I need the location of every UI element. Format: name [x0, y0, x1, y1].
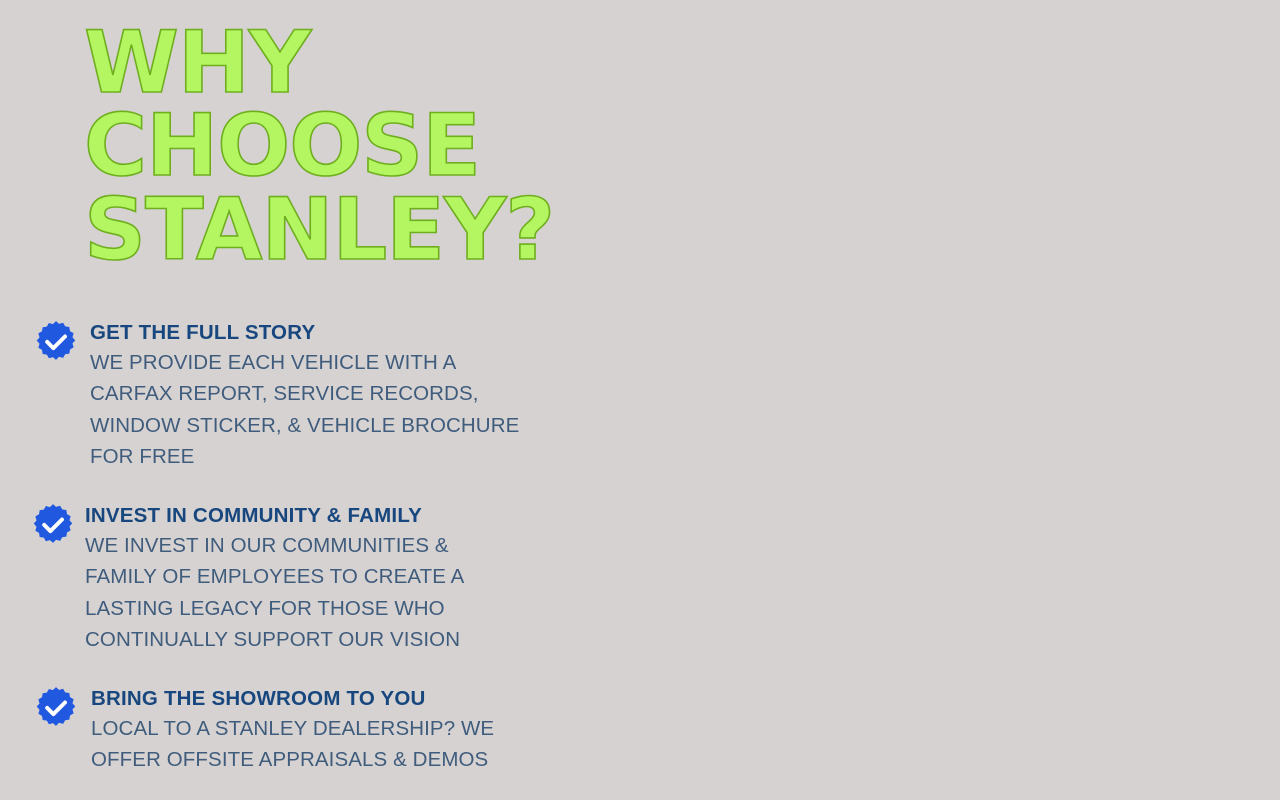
- feature-title: GET THE FULL STORY: [90, 320, 608, 346]
- feature-description: WE INVEST IN OUR COMMUNITIES & FAMILY OF…: [85, 530, 605, 655]
- right-column: NO HIDDEN DEALER FEES NO ADDENDUMS, ADD …: [650, 0, 1280, 800]
- poster-canvas: WHY CHOOSE STANLEY? GET THE FULL STORY W…: [0, 0, 1280, 800]
- left-column: WHY CHOOSE STANLEY? GET THE FULL STORY W…: [0, 0, 620, 800]
- feature-item: BRING THE SHOWROOM TO YOU LOCAL TO A STA…: [33, 686, 608, 776]
- page-title: WHY CHOOSE STANLEY?: [84, 22, 604, 272]
- feature-text: BRING THE SHOWROOM TO YOU LOCAL TO A STA…: [91, 686, 608, 776]
- check-badge-icon: [33, 320, 79, 366]
- feature-description: LOCAL TO A STANLEY DEALERSHIP? WE OFFER …: [91, 713, 608, 775]
- feature-text: INVEST IN COMMUNITY & FAMILY WE INVEST I…: [85, 503, 605, 655]
- feature-description: WE PROVIDE EACH VEHICLE WITH A CARFAX RE…: [90, 347, 608, 472]
- feature-title: INVEST IN COMMUNITY & FAMILY: [85, 503, 605, 529]
- check-badge-icon: [30, 503, 76, 549]
- check-badge-icon: [33, 686, 79, 732]
- feature-item: GET THE FULL STORY WE PROVIDE EACH VEHIC…: [33, 320, 608, 472]
- feature-title: BRING THE SHOWROOM TO YOU: [91, 686, 608, 712]
- feature-text: GET THE FULL STORY WE PROVIDE EACH VEHIC…: [90, 320, 608, 472]
- feature-item: INVEST IN COMMUNITY & FAMILY WE INVEST I…: [30, 503, 605, 655]
